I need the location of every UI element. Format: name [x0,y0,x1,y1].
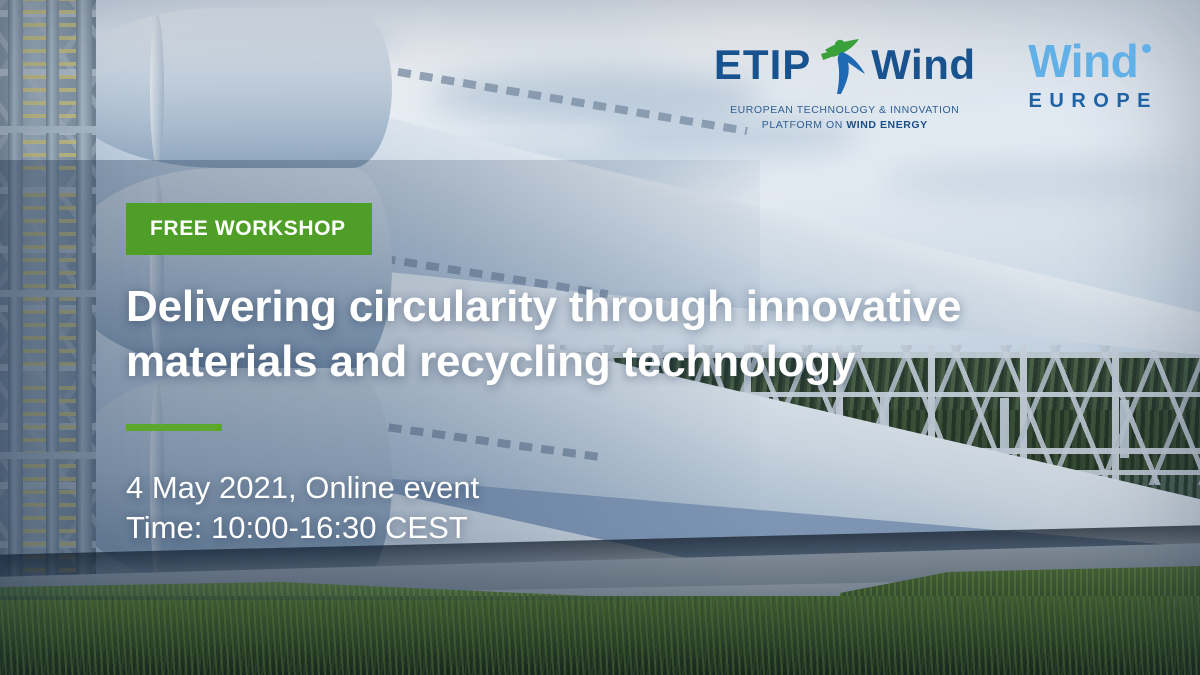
banner-content: ETIP Wind EUROPEAN TECHNOLOGY & INNOVAT [0,0,1200,675]
event-time: Time: 10:00-16:30 CEST [126,508,479,548]
free-workshop-badge: FREE WORKSHOP [126,203,372,255]
windeurope-europe-word: EUROPE [1022,90,1158,113]
green-divider [126,424,222,431]
etip-subtitle-line1: EUROPEAN TECHNOLOGY & INNOVATION [730,103,959,118]
etip-wind-word: Wind [871,44,975,86]
windeurope-wordmark-row: Wind [1028,38,1151,84]
etip-subtitle: EUROPEAN TECHNOLOGY & INNOVATION PLATFOR… [730,103,959,133]
event-title: Delivering circularity through innovativ… [126,280,1066,389]
windeurope-logo: Wind EUROPE [1022,36,1158,113]
etip-subtitle-plain: PLATFORM ON [762,119,847,131]
logo-group: ETIP Wind EUROPEAN TECHNOLOGY & INNOVAT [714,36,1158,133]
etip-wordmark-row: ETIP Wind [714,36,976,94]
windeurope-dot-icon [1142,44,1151,53]
windeurope-wind-word: Wind [1028,38,1138,84]
etip-wind-logo: ETIP Wind EUROPEAN TECHNOLOGY & INNOVAT [714,36,976,133]
etip-figure-icon [815,36,869,94]
event-title-line2: materials and recycling technology [126,335,1066,390]
event-date: 4 May 2021, Online event [126,468,479,508]
event-title-line1: Delivering circularity through innovativ… [126,280,1066,335]
event-banner: ETIP Wind EUROPEAN TECHNOLOGY & INNOVAT [0,0,1200,675]
event-meta: 4 May 2021, Online event Time: 10:00-16:… [126,468,479,547]
etip-subtitle-bold: WIND ENERGY [846,119,927,131]
etip-subtitle-line2: PLATFORM ON WIND ENERGY [730,118,959,133]
etip-wordmark: ETIP [714,44,811,86]
